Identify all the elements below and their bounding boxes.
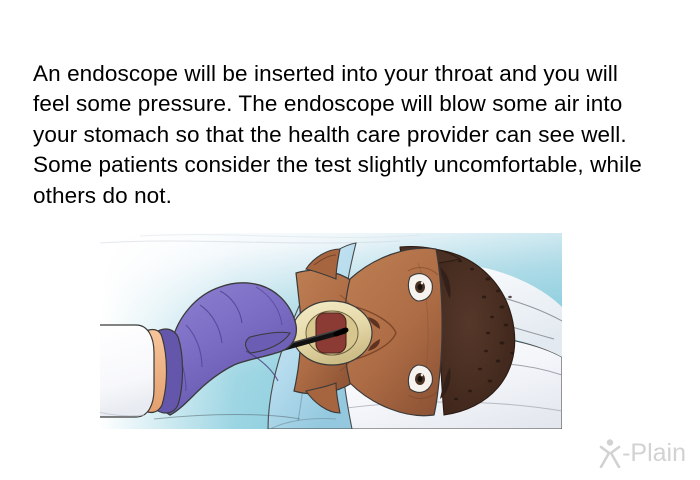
endoscopy-illustration xyxy=(100,233,562,429)
instruction-paragraph: An endoscope will be inserted into your … xyxy=(33,59,647,212)
xplain-logo-text: -Plain xyxy=(622,441,686,466)
xplain-logo: -Plain xyxy=(597,436,686,470)
page-root: An endoscope will be inserted into your … xyxy=(0,0,700,480)
x-plain-figure-icon xyxy=(597,438,623,468)
illustration-canvas xyxy=(100,233,562,429)
provider-coat-sleeve xyxy=(100,325,154,417)
